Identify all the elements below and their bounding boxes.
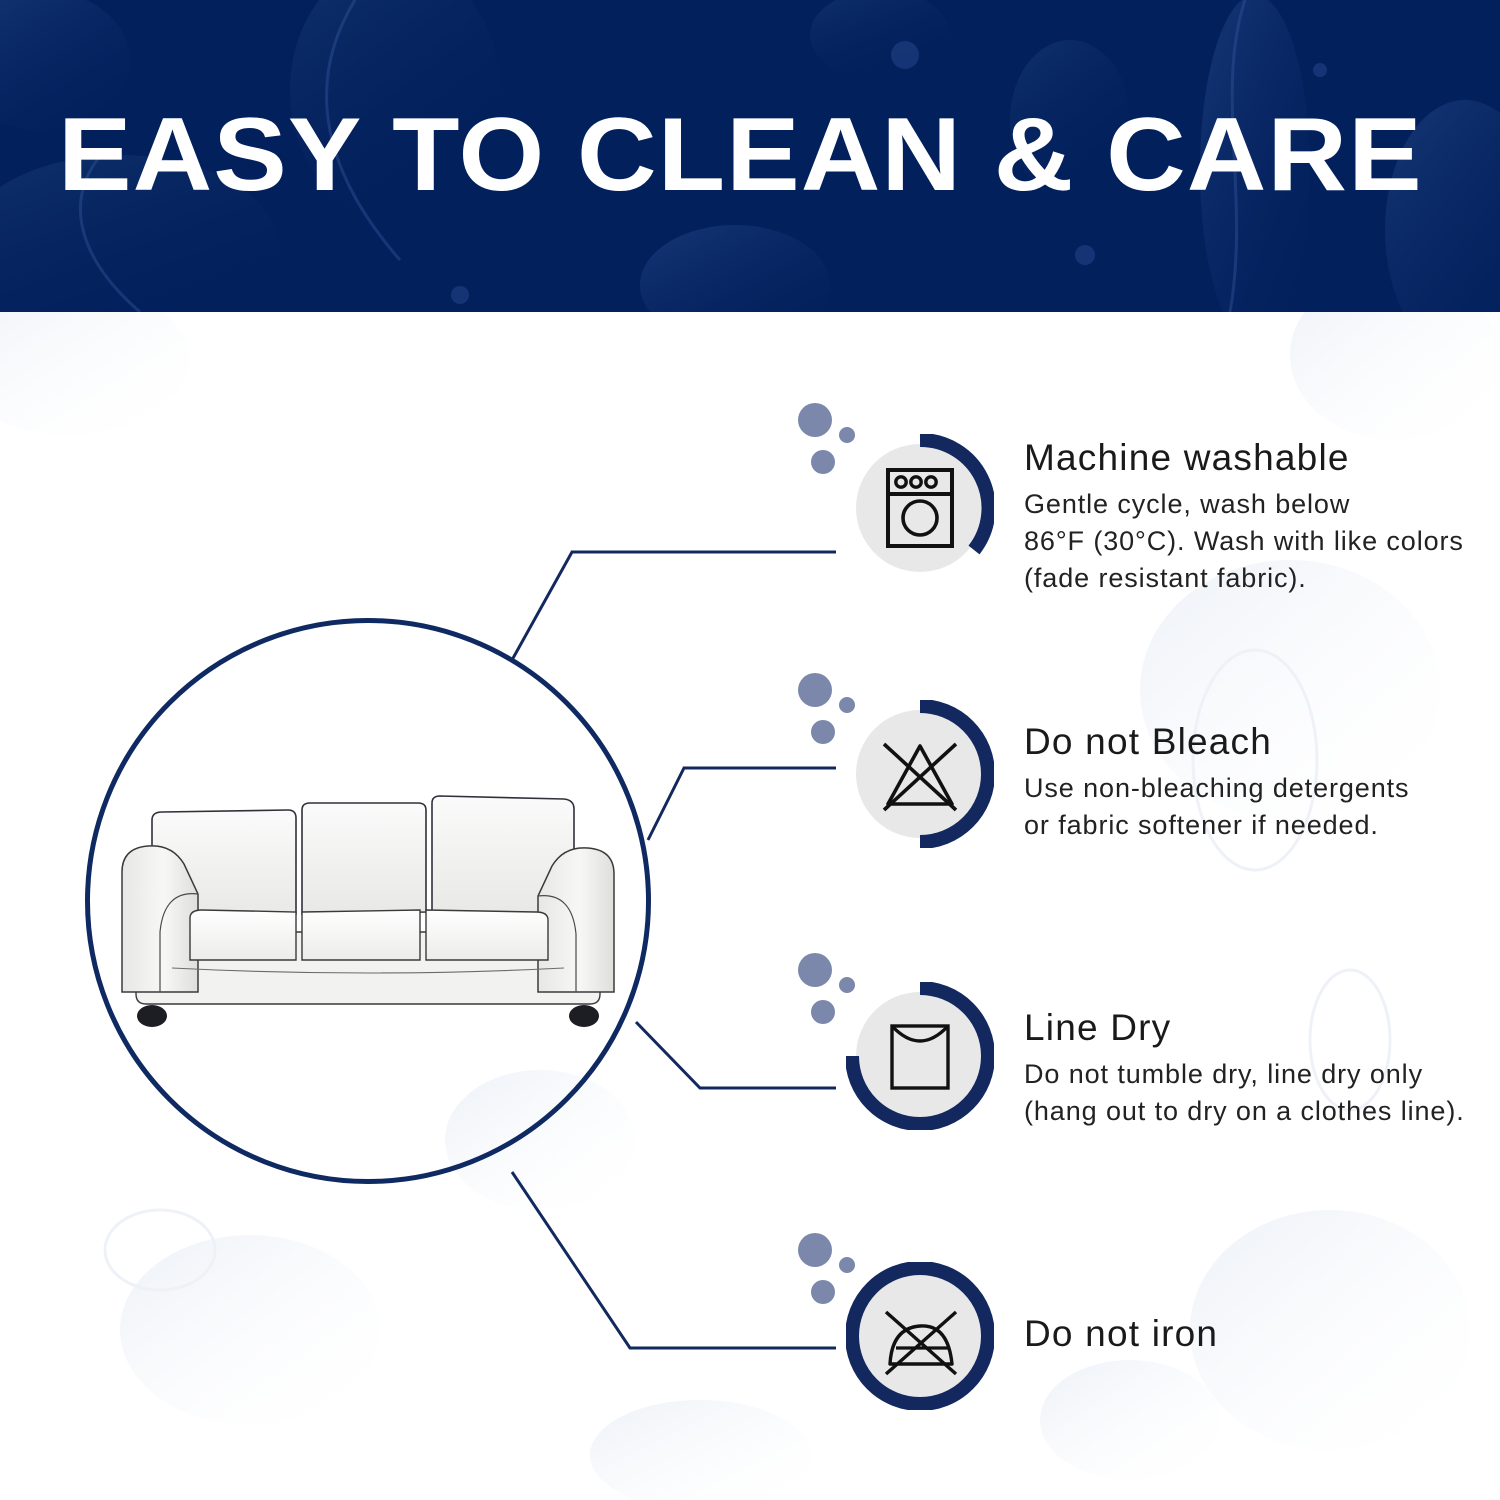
badge-do-not-bleach[interactable] [846,700,994,848]
connector-line-4 [512,1172,836,1348]
feature-title: Machine washable [1024,436,1494,480]
feature-text-block: Do not iron [1024,1312,1494,1362]
feature-title: Do not Bleach [1024,720,1494,764]
feature-text-block: Machine washable Gentle cycle, wash belo… [1024,436,1494,597]
badge-line-dry[interactable] [846,982,994,1130]
feature-description: Do not tumble dry, line dry only (hang o… [1024,1056,1500,1130]
feature-title: Line Dry [1024,1006,1500,1050]
feature-description: Gentle cycle, wash below 86°F (30°C). Wa… [1024,486,1494,597]
connector-line-1 [512,552,836,660]
washing-machine-icon [856,444,984,572]
care-instructions-infographic: EASY TO CLEAN & CARE [0,0,1500,1500]
feature-description: Use non-bleaching detergents or fabric s… [1024,770,1494,844]
no-iron-icon [856,1272,984,1400]
line-dry-square-icon [856,992,984,1120]
connector-line-2 [648,768,836,840]
badge-do-not-iron[interactable] [846,1262,994,1410]
feature-text-block: Do not Bleach Use non-bleaching detergen… [1024,720,1494,844]
no-bleach-triangle-icon [856,710,984,838]
badge-machine-washable[interactable] [846,434,994,582]
feature-title: Do not iron [1024,1312,1494,1356]
feature-text-block: Line Dry Do not tumble dry, line dry onl… [1024,1006,1500,1130]
